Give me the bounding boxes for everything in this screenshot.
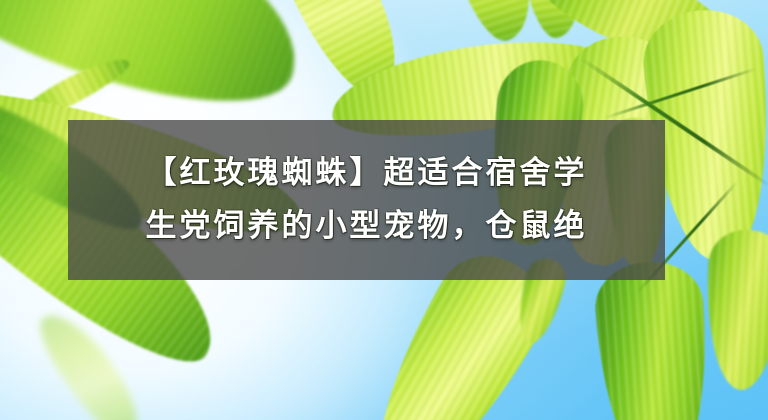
caption-line-2: 生党饲养的小型宠物，仓鼠绝 xyxy=(146,209,588,244)
caption-line-1: 【红玫瑰蜘蛛】超适合宿舍学 xyxy=(146,156,588,191)
banner-image: 【红玫瑰蜘蛛】超适合宿舍学 生党饲养的小型宠物，仓鼠绝 xyxy=(0,0,768,420)
caption-overlay-panel: 【红玫瑰蜘蛛】超适合宿舍学 生党饲养的小型宠物，仓鼠绝 xyxy=(68,120,665,280)
